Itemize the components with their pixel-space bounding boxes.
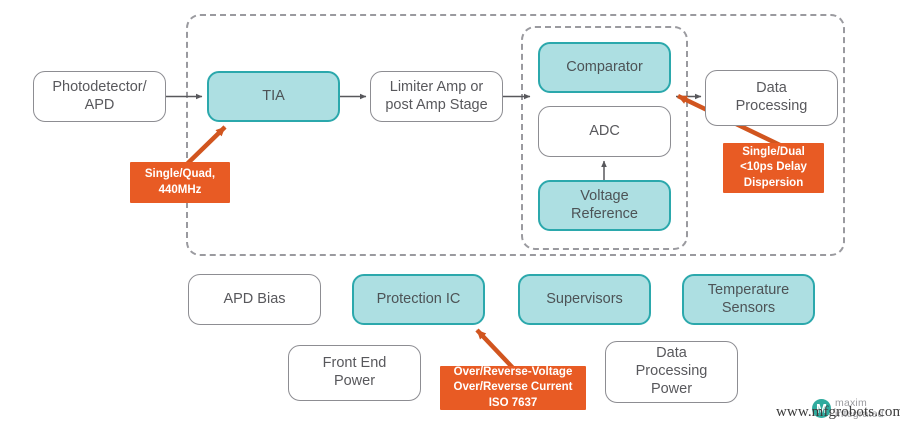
diagram-canvas: Photodetector/APD TIA Limiter Amp orpost… — [0, 0, 900, 434]
block-label: VoltageReference — [546, 188, 663, 223]
callout-label: Single/Dual<10ps DelayDispersion — [740, 145, 807, 191]
block-apd-bias[interactable]: APD Bias — [188, 274, 321, 325]
callout-label: Over/Reverse-VoltageOver/Reverse Current… — [454, 365, 573, 411]
block-label: ADC — [545, 123, 664, 141]
site-watermark: www.mfgrobots.com — [776, 404, 900, 421]
callout-tia: Single/Quad,440MHz — [130, 162, 230, 203]
block-label: Limiter Amp orpost Amp Stage — [377, 79, 496, 114]
block-label: Supervisors — [526, 291, 643, 309]
callout-comparator: Single/Dual<10ps DelayDispersion — [723, 143, 824, 193]
block-label: TIA — [215, 88, 332, 106]
block-temperature-sensors[interactable]: TemperatureSensors — [682, 274, 815, 325]
block-label: DataProcessingPower — [612, 345, 731, 398]
callout-label: Single/Quad,440MHz — [145, 167, 215, 197]
block-label: Photodetector/APD — [40, 79, 159, 114]
block-supervisors[interactable]: Supervisors — [518, 274, 651, 325]
block-data-processing-power[interactable]: DataProcessingPower — [605, 341, 738, 403]
block-label: TemperatureSensors — [690, 282, 807, 317]
block-protection-ic[interactable]: Protection IC — [352, 274, 485, 325]
block-data-processing[interactable]: DataProcessing — [705, 70, 838, 126]
block-label: DataProcessing — [712, 80, 831, 115]
block-label: APD Bias — [195, 291, 314, 309]
block-adc[interactable]: ADC — [538, 106, 671, 157]
callout-protection-ic: Over/Reverse-VoltageOver/Reverse Current… — [440, 366, 586, 410]
block-label: Front EndPower — [295, 355, 414, 390]
block-label: Protection IC — [360, 291, 477, 309]
block-photodetector[interactable]: Photodetector/APD — [33, 71, 166, 122]
block-limiter-amp[interactable]: Limiter Amp orpost Amp Stage — [370, 71, 503, 122]
block-label: Comparator — [546, 59, 663, 77]
block-front-end-power[interactable]: Front EndPower — [288, 345, 421, 401]
block-tia[interactable]: TIA — [207, 71, 340, 122]
block-comparator[interactable]: Comparator — [538, 42, 671, 93]
block-voltage-reference[interactable]: VoltageReference — [538, 180, 671, 231]
receiver-chain-group — [186, 14, 845, 256]
